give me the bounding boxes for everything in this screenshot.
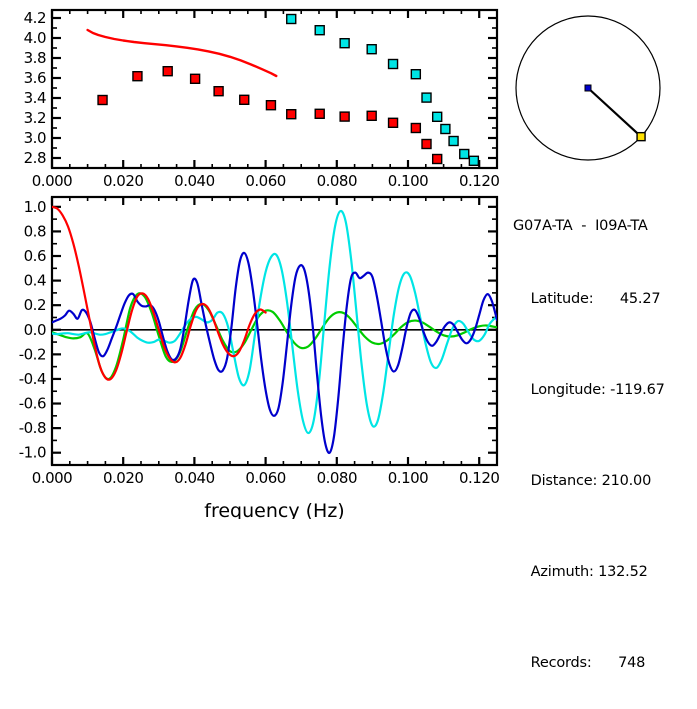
station-map-inset — [505, 5, 697, 180]
cross-correlation-plot: 0.0000.0200.0400.0600.0800.1000.120-1.0-… — [0, 190, 510, 519]
dispersion-plot-svg: 0.0000.0200.0400.0600.0800.1000.1202.83.… — [0, 0, 510, 192]
dispersion-series-group — [88, 15, 479, 166]
info-value-records: 748 — [618, 655, 645, 671]
station-map-svg — [505, 5, 697, 180]
narrow-band-green — [52, 293, 497, 379]
y-tick-label: 3.6 — [24, 69, 46, 87]
y-tick-label: -0.4 — [19, 370, 46, 388]
info-spacer — [592, 655, 618, 671]
y-tick-label: 0.2 — [24, 296, 46, 314]
x-tick-label: 0.120 — [459, 172, 499, 190]
y-tick-label: 4.2 — [24, 9, 46, 27]
info-label-distance: Distance: — [531, 473, 598, 489]
cross-correlation-plot-svg: 0.0000.0200.0400.0600.0800.1000.120-1.0-… — [0, 190, 510, 519]
info-label-latitude: Latitude: — [531, 291, 594, 307]
y-tick-label: 3.8 — [24, 49, 46, 67]
y-tick-label: 0.6 — [24, 247, 46, 265]
phase-velocity-cyan-marker — [449, 137, 458, 146]
info-label-records: Records: — [531, 655, 592, 671]
x-tick-label: 0.020 — [103, 172, 143, 190]
y-tick-label: 1.0 — [24, 198, 46, 216]
station-info-block: G07A-TA - I09A-TA Latitude: 45.27 Longit… — [513, 181, 665, 709]
phase-velocity-cyan-marker — [469, 156, 478, 165]
y-tick-label: -0.8 — [19, 419, 46, 437]
info-row-azimuth: Azimuth: 132.52 — [513, 545, 665, 600]
waveform-series-group — [52, 207, 497, 453]
info-value-latitude: 45.27 — [620, 291, 661, 307]
station-center-dot — [585, 85, 591, 91]
group-velocity-red-marker — [266, 101, 275, 110]
y-tick-label: -0.2 — [19, 345, 46, 363]
station-pair-title: G07A-TA - I09A-TA — [513, 217, 665, 235]
x-tick-label: 0.060 — [245, 172, 285, 190]
y-tick-label: 0.4 — [24, 272, 46, 290]
x-tick-label: 0.040 — [174, 172, 214, 190]
group-velocity-red-marker — [163, 67, 172, 76]
group-velocity-red-marker — [315, 109, 324, 118]
y-tick-label: 0.8 — [24, 222, 46, 240]
group-velocity-red-marker — [422, 140, 431, 149]
model-curve — [88, 30, 277, 76]
x-tick-label: 0.080 — [317, 172, 357, 190]
x-tick-label: 0.100 — [388, 469, 428, 487]
x-tick-label: 0.100 — [388, 172, 428, 190]
phase-velocity-cyan-marker — [315, 26, 324, 35]
x-axis-label: frequency (Hz) — [204, 500, 344, 519]
phase-velocity-cyan-marker — [441, 125, 450, 134]
group-velocity-red-marker — [240, 95, 249, 104]
y-tick-label: 0.0 — [24, 321, 46, 339]
broadband-blue — [52, 253, 497, 453]
info-value-azimuth: 132.52 — [598, 564, 648, 580]
x-tick-label: 0.040 — [174, 469, 214, 487]
info-value-distance: 210.00 — [602, 473, 652, 489]
info-row-longitude: Longitude: -119.67 — [513, 363, 665, 418]
station-end-square — [637, 133, 645, 141]
info-label-azimuth: Azimuth: — [531, 564, 594, 580]
azimuth-line — [588, 88, 641, 137]
phase-velocity-cyan-marker — [389, 60, 398, 69]
dispersion-plot: 0.0000.0200.0400.0600.0800.1000.1202.83.… — [0, 0, 510, 192]
phase-velocity-cyan-marker — [411, 70, 420, 79]
y-tick-label: 3.0 — [24, 129, 46, 147]
phase-velocity-cyan-marker — [422, 93, 431, 102]
info-row-latitude: Latitude: 45.27 — [513, 272, 665, 327]
y-tick-label: 4.0 — [24, 29, 46, 47]
group-velocity-red-marker — [389, 118, 398, 127]
group-velocity-red-marker — [133, 72, 142, 81]
phase-velocity-cyan-marker — [287, 15, 296, 24]
x-tick-label: 0.080 — [317, 469, 357, 487]
group-velocity-red-marker — [191, 74, 200, 83]
info-row-distance: Distance: 210.00 — [513, 454, 665, 509]
info-spacer — [593, 291, 619, 307]
y-tick-label: 3.2 — [24, 109, 46, 127]
group-velocity-red-marker — [214, 87, 223, 96]
phase-velocity-cyan-marker — [460, 150, 469, 159]
group-velocity-red-marker — [287, 110, 296, 119]
plot-frame — [52, 197, 497, 465]
group-velocity-red-marker — [411, 124, 420, 133]
y-tick-label: -1.0 — [19, 444, 46, 462]
info-value-longitude: -119.67 — [610, 382, 665, 398]
x-tick-label: 0.020 — [103, 469, 143, 487]
y-tick-label: 2.8 — [24, 149, 46, 167]
info-label-longitude: Longitude: — [531, 382, 606, 398]
group-velocity-red-marker — [340, 112, 349, 121]
x-tick-label: 0.060 — [245, 469, 285, 487]
group-velocity-red-marker — [367, 111, 376, 120]
info-row-records: Records: 748 — [513, 636, 665, 691]
x-tick-label: 0.120 — [459, 469, 499, 487]
phase-velocity-cyan-marker — [433, 112, 442, 121]
group-velocity-red-marker — [98, 96, 107, 105]
phase-velocity-cyan-marker — [367, 45, 376, 54]
phase-velocity-cyan-marker — [340, 39, 349, 48]
y-tick-label: -0.6 — [19, 395, 46, 413]
x-tick-label: 0.000 — [32, 172, 72, 190]
group-velocity-red-marker — [433, 155, 442, 164]
x-tick-label: 0.000 — [32, 469, 72, 487]
y-tick-label: 3.4 — [24, 89, 46, 107]
